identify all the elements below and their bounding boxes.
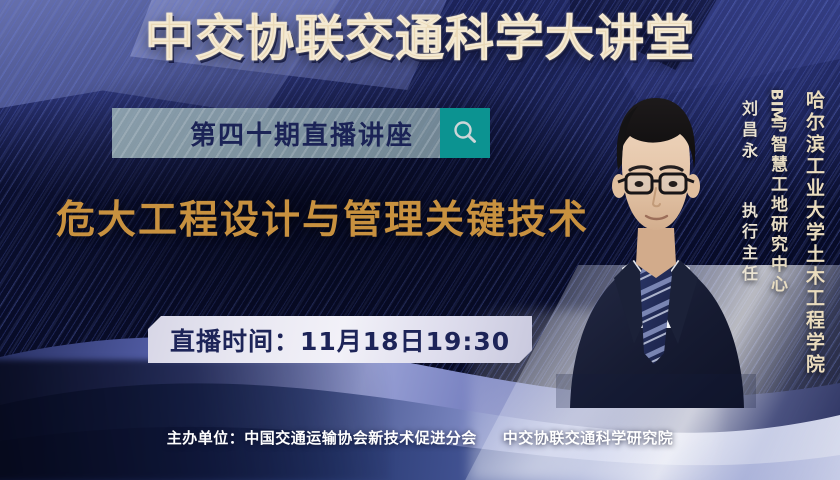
bim-label: BIM <box>767 88 786 122</box>
footer-label: 主办单位： <box>167 429 245 447</box>
footer-organizer-1: 中国交通运输协会新技术促进分会 <box>244 429 477 447</box>
research-center-suffix: 与智慧工地研究中心 <box>767 115 787 295</box>
live-time-text: 直播时间：11月18日19:30 <box>170 322 510 358</box>
lecture-title: 危大工程设计与管理关键技术 <box>56 189 589 245</box>
page-title: 中交协联交通科学大讲堂 <box>0 14 840 63</box>
speaker-organization: 哈尔滨工业大学土木工程学院 <box>801 90 828 376</box>
footer: 主办单位：中国交通运输协会新技术促进分会中交协联交通科学研究院 <box>0 427 840 448</box>
episode-label: 第四十期直播讲座 <box>132 115 420 152</box>
live-time-badge: 直播时间：11月18日19:30 <box>148 316 532 363</box>
footer-organizer-2: 中交协联交通科学研究院 <box>503 429 674 447</box>
episode-bar-body: 第四十期直播讲座 <box>112 108 440 158</box>
episode-bar: 第四十期直播讲座 <box>112 108 490 158</box>
search-icon[interactable] <box>440 108 490 158</box>
silk-shadow-left <box>0 360 390 480</box>
live-lecture-poster: 中交协联交通科学大讲堂 第四十期直播讲座 危大工程设计与管理关键技术 直播时间：… <box>0 0 840 480</box>
speaker-name: 刘昌永 <box>736 100 760 163</box>
speaker-research-center: BIM与智慧工地研究中心 <box>760 96 794 295</box>
speaker-role: 执行主任 <box>736 202 760 286</box>
